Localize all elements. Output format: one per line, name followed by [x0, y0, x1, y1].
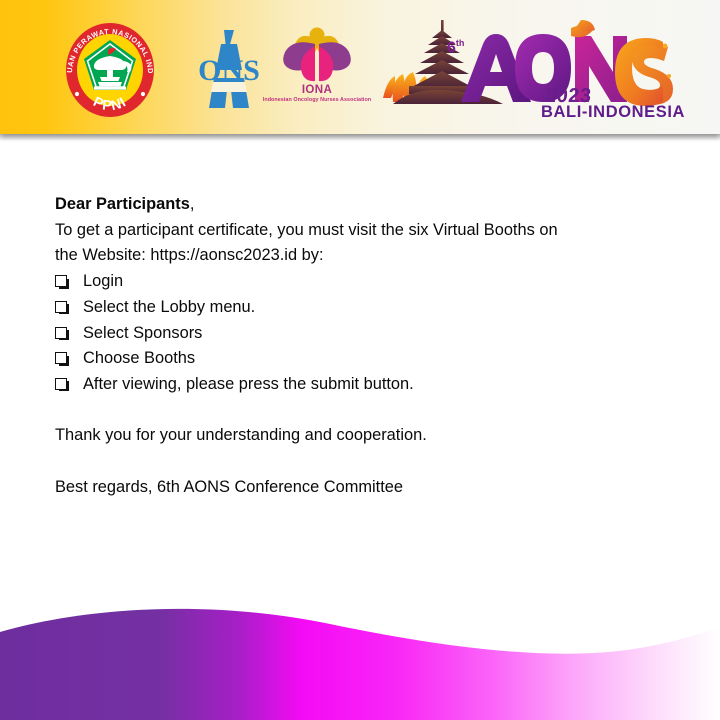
message-body: Dear Participants, To get a participant … — [55, 192, 675, 500]
intro-line-2-suffix: by: — [297, 246, 323, 264]
iona-fullname: Indonesian Oncology Nurses Association — [262, 97, 372, 103]
checkbox-square-icon — [55, 327, 68, 340]
slide-canvas: PERSATUAN PERAWAT NASIONAL INDONESIA PPN… — [0, 0, 720, 720]
aonsc-edition: 6th — [447, 38, 464, 57]
step-label: Choose Booths — [83, 346, 195, 372]
step-label: Login — [83, 269, 123, 295]
closing-line: Thank you for your understanding and coo… — [55, 423, 675, 449]
iona-logo: IONA Indonesian Oncology Nurses Associat… — [268, 26, 366, 118]
intro-line-1: To get a participant certificate, you mu… — [55, 218, 675, 244]
signature-line: Best regards, 6th AONS Conference Commit… — [55, 475, 675, 501]
ppni-logo: PERSATUAN PERAWAT NASIONAL INDONESIA PPN… — [58, 18, 162, 122]
checkbox-square-icon — [55, 275, 68, 288]
list-item: After viewing, please press the submit b… — [55, 372, 675, 398]
greeting-text: Dear Participants — [55, 195, 190, 213]
greeting-punctuation: , — [190, 195, 195, 213]
greeting-line: Dear Participants, — [55, 192, 675, 218]
step-label: Select Sponsors — [83, 321, 202, 347]
step-label: Select the Lobby menu. — [83, 295, 255, 321]
aonsc-edition-number: 6 — [447, 39, 456, 56]
wave-shape — [0, 609, 720, 720]
list-item: Select Sponsors — [55, 321, 675, 347]
iona-wordmark: IONA — [268, 84, 366, 96]
checkbox-square-icon — [55, 301, 68, 314]
header-banner: PERSATUAN PERAWAT NASIONAL INDONESIA PPN… — [0, 0, 720, 134]
paragraph-spacer — [55, 449, 675, 475]
logo-row: PERSATUAN PERAWAT NASIONAL INDONESIA PPN… — [0, 0, 720, 134]
intro-line-2-prefix: the Website: — [55, 246, 150, 264]
steps-list: Login Select the Lobby menu. Select Spon… — [55, 269, 675, 398]
aonsc-location: BALI-INDONESIA — [541, 103, 685, 122]
banner-drop-shadow — [0, 134, 720, 141]
checkbox-square-icon — [55, 352, 68, 365]
list-item: Select the Lobby menu. — [55, 295, 675, 321]
intro-line-2: the Website: https://aonsc2023.id by: — [55, 243, 675, 269]
ons-wordmark: ONS — [198, 54, 260, 87]
footer-wave-decoration — [0, 600, 720, 720]
aonsc-logo: 6th 2023 BALI-INDONESIA — [375, 14, 675, 126]
website-url: https://aonsc2023.id — [150, 246, 297, 264]
paragraph-spacer — [55, 398, 675, 424]
checkbox-square-icon — [55, 378, 68, 391]
step-label: After viewing, please press the submit b… — [83, 372, 414, 398]
list-item: Login — [55, 269, 675, 295]
list-item: Choose Booths — [55, 346, 675, 372]
aonsc-edition-suffix: th — [456, 38, 465, 48]
